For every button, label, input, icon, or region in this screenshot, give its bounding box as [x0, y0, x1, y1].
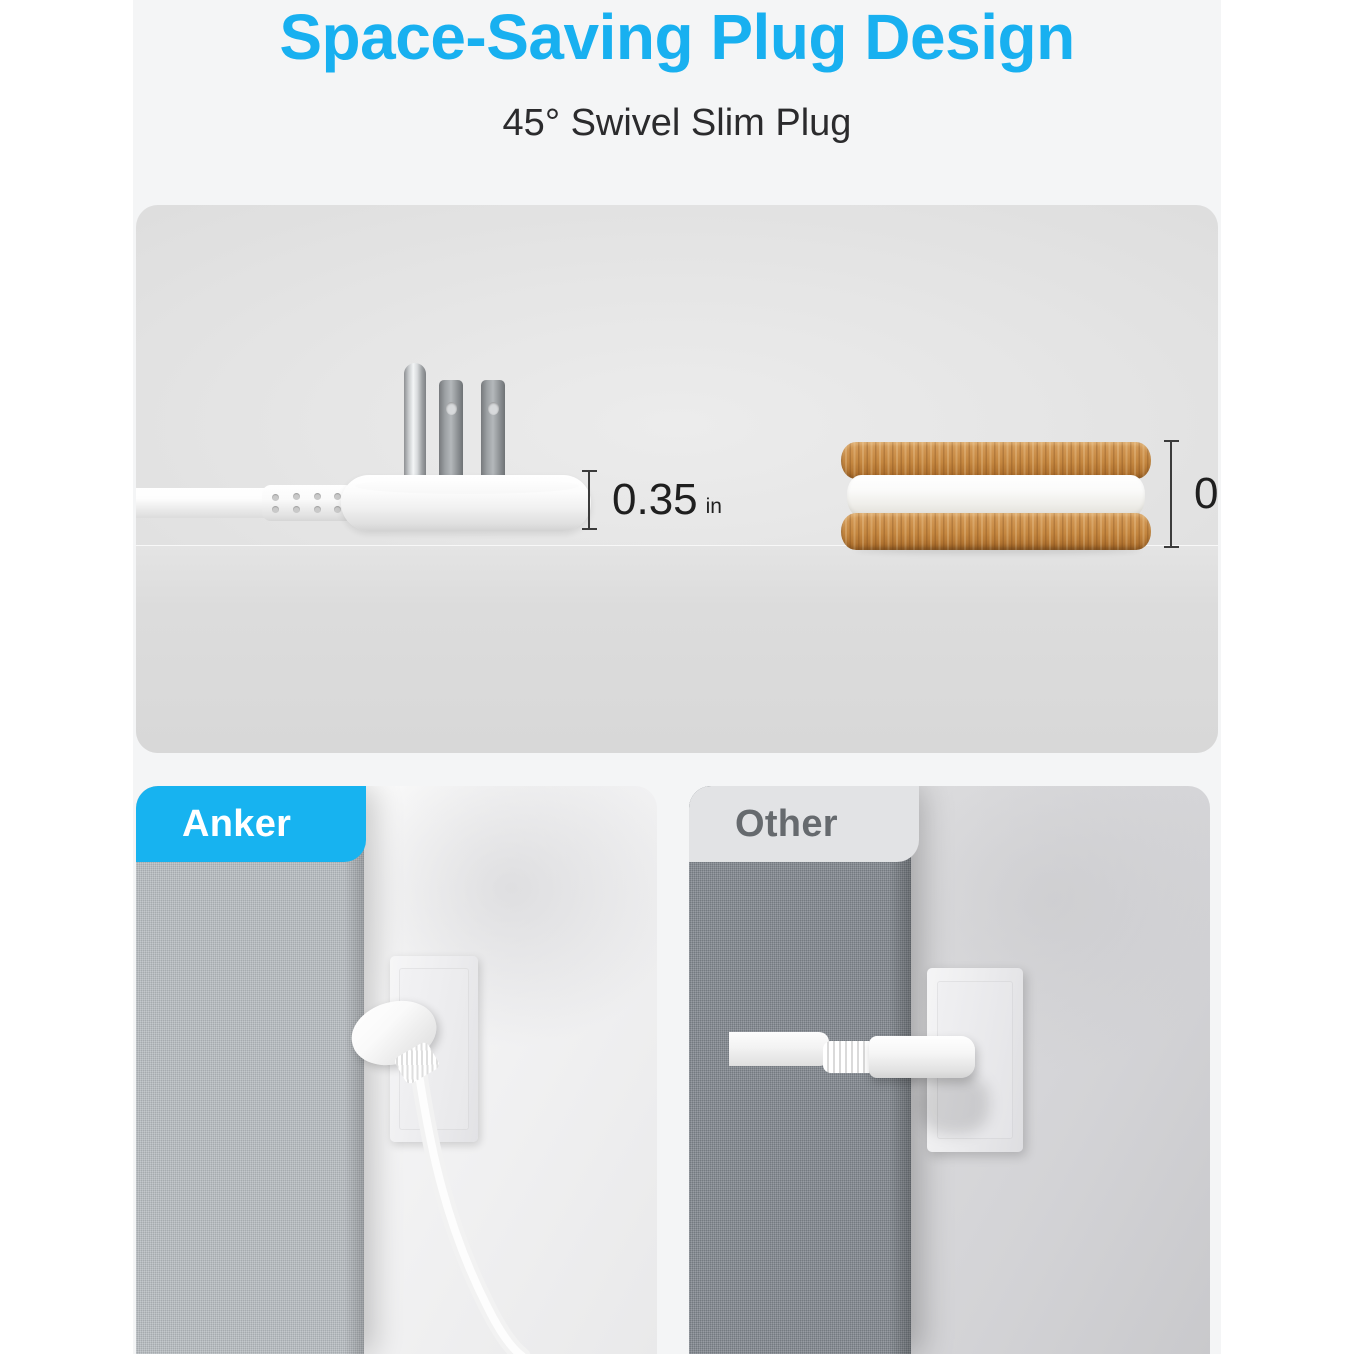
plug-ground-prong [404, 363, 426, 485]
product-feature-page: Space-Saving Plug Design 45° Swivel Slim… [0, 0, 1354, 1354]
bulky-plug-shadow [919, 1074, 989, 1134]
plug-blade-prong-left [439, 380, 463, 485]
page-subtitle: 45° Swivel Slim Plug [133, 99, 1221, 147]
dimension-anker-plug: 0.35in [582, 470, 812, 540]
hero-size-comparison-card: 0.35in 0.45in [136, 205, 1218, 753]
prong-hole [488, 402, 499, 415]
dimension-cookie: 0.45in [1164, 440, 1218, 555]
page-title: Space-Saving Plug Design [133, 0, 1221, 76]
furniture-fabric-block [136, 786, 364, 1354]
bulky-plug-body [869, 1036, 975, 1078]
cookie-shadow [855, 546, 1140, 554]
dimension-unit: in [706, 495, 722, 518]
badge-other: Other [689, 786, 919, 862]
dimension-cap-bottom [1164, 546, 1179, 548]
sandwich-cookie-illustration [841, 442, 1151, 550]
comparison-panel-other: Other [689, 786, 1210, 1354]
content-column: Space-Saving Plug Design 45° Swivel Slim… [133, 0, 1221, 1354]
bulky-plug-cord [729, 1032, 829, 1066]
dimension-value: 0.45 [1194, 469, 1218, 518]
plug-body-highlight [355, 478, 579, 494]
dimension-value: 0.35 [612, 475, 698, 524]
plug-body [341, 475, 591, 531]
comparison-panel-anker: Anker [136, 786, 657, 1354]
cookie-wafer-top [841, 442, 1151, 479]
header-block: Space-Saving Plug Design 45° Swivel Slim… [133, 0, 1221, 205]
dimension-label: 0.45in [1194, 470, 1218, 525]
badge-anker: Anker [136, 786, 366, 862]
cookie-cream-filling [847, 475, 1145, 517]
dimension-label: 0.35in [612, 476, 722, 531]
prong-hole [446, 402, 457, 415]
hero-surface [136, 545, 1218, 753]
flat-plug-cord [346, 1056, 546, 1354]
plug-blade-prong-right [481, 380, 505, 485]
cookie-wafer-bottom [841, 513, 1151, 550]
dimension-bar [588, 470, 590, 530]
dimension-bar [1170, 440, 1172, 548]
dimension-cap-bottom [582, 528, 597, 530]
